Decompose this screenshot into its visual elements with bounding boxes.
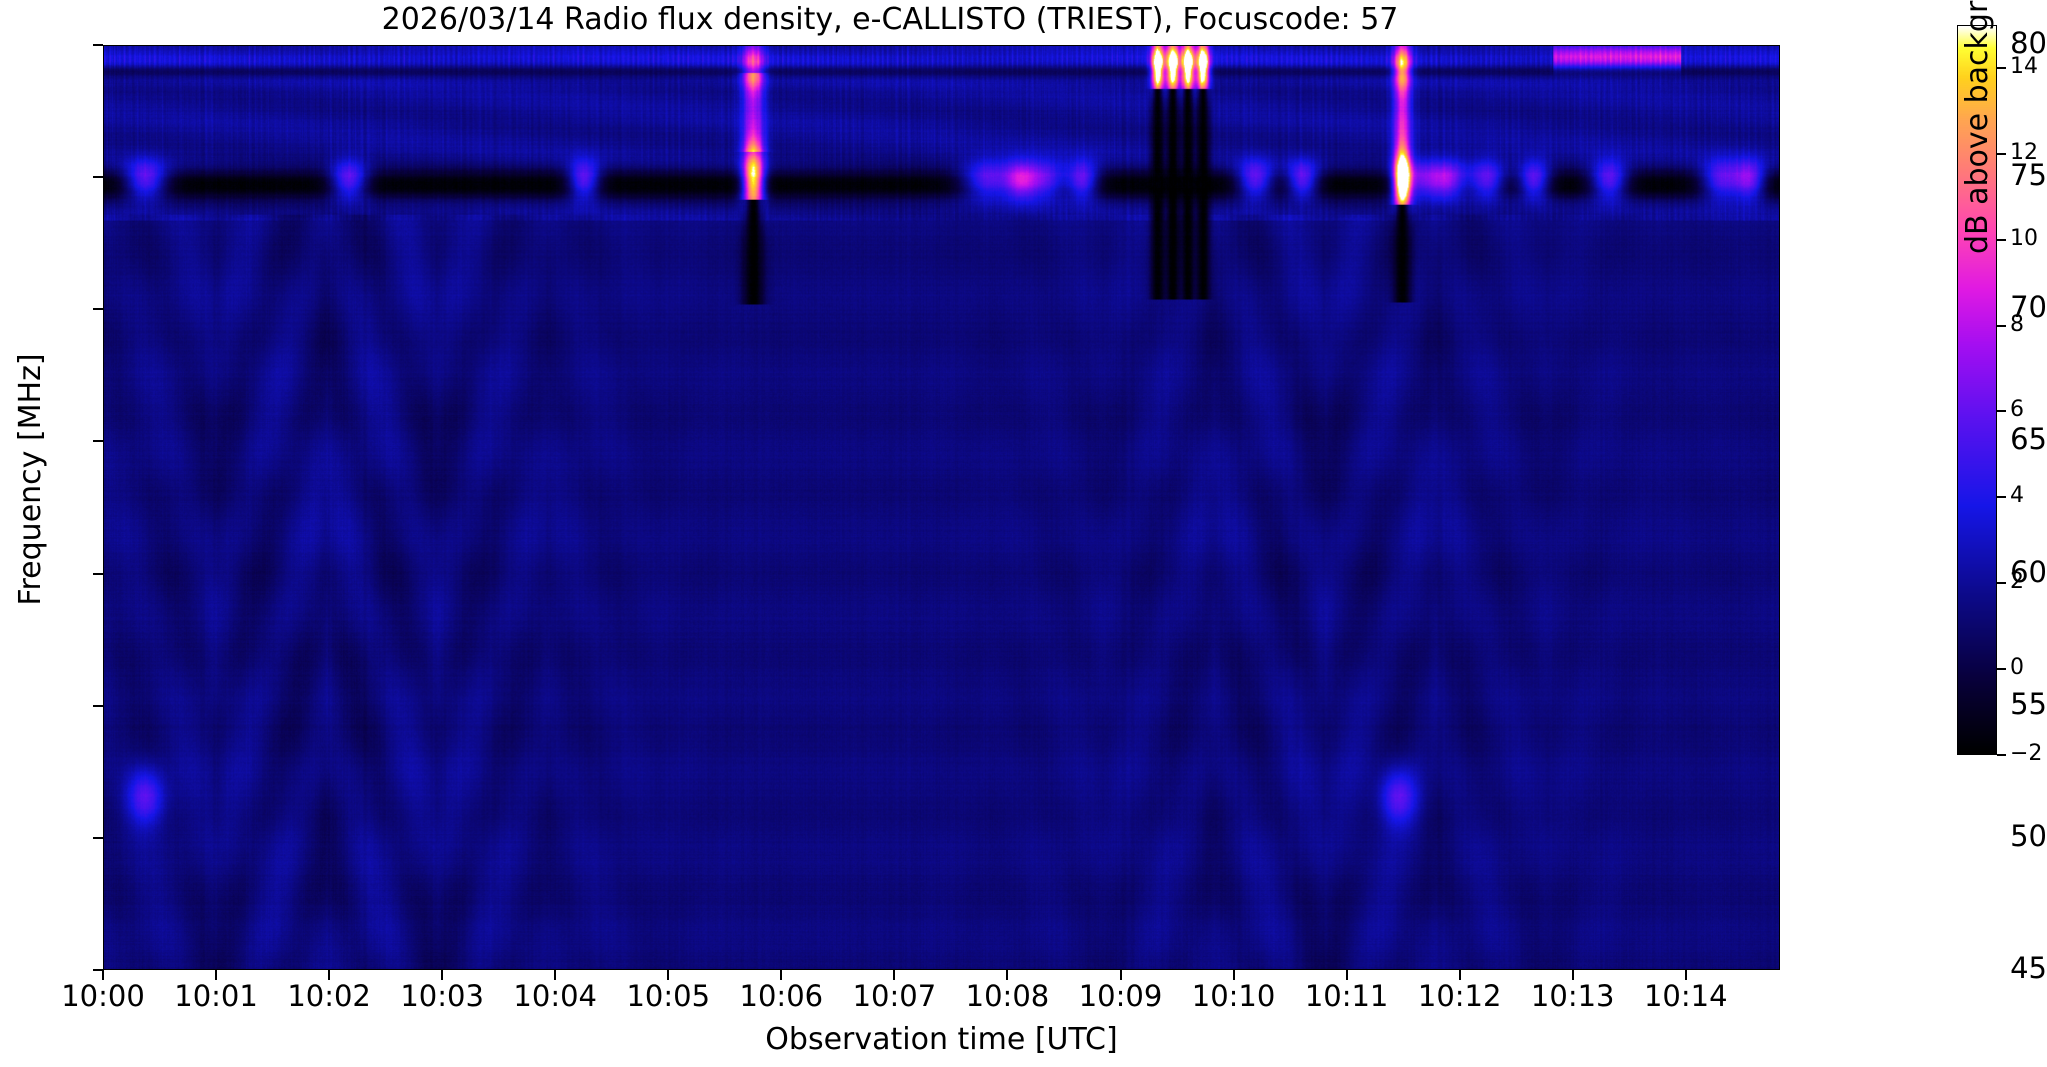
y-tick-mark — [93, 308, 103, 310]
y-tick-label: 45 — [1961, 954, 2047, 983]
y-tick-mark — [93, 44, 103, 46]
colorbar-tick-label: 12 — [2010, 142, 2038, 164]
colorbar-tick-label: 8 — [2010, 314, 2024, 336]
colorbar-tick-label: 4 — [2010, 485, 2024, 507]
colorbar-tick-mark — [1997, 239, 2006, 241]
colorbar-tick-mark — [1997, 496, 2006, 498]
colorbar-tick-mark — [1997, 668, 2006, 670]
colorbar-tick-mark — [1997, 582, 2006, 584]
y-axis-label: Frequency [MHz] — [13, 17, 48, 942]
colorbar-tick-label: 6 — [2010, 399, 2024, 421]
colorbar-tick-mark — [1997, 153, 2006, 155]
y-tick-label: 50 — [1961, 822, 2047, 851]
figure-root: 2026/03/14 Radio flux density, e-CALLIST… — [0, 0, 2047, 1067]
y-tick-mark — [93, 837, 103, 839]
spectrogram-canvas — [104, 46, 1779, 969]
colorbar-label: dB above background — [1960, 0, 1995, 390]
colorbar-tick-mark — [1997, 67, 2006, 69]
x-axis-label: Observation time [UTC] — [103, 1022, 1780, 1057]
colorbar-tick-label: 0 — [2010, 657, 2024, 679]
colorbar-tick-label: 10 — [2010, 228, 2038, 250]
colorbar-tick-label: −2 — [2010, 743, 2042, 765]
spectrogram-plot-area[interactable] — [103, 45, 1780, 970]
y-tick-mark — [93, 176, 103, 178]
x-tick-label: 10:14 — [1606, 982, 1766, 1011]
y-tick-mark — [93, 705, 103, 707]
figure-title: 2026/03/14 Radio flux density, e-CALLIST… — [0, 2, 1780, 37]
colorbar-tick-mark — [1997, 410, 2006, 412]
colorbar-tick-label: 14 — [2010, 56, 2038, 78]
colorbar-tick-mark — [1997, 754, 2006, 756]
colorbar-tick-label: 2 — [2010, 571, 2024, 593]
y-tick-mark — [93, 440, 103, 442]
colorbar-tick-mark — [1997, 325, 2006, 327]
y-tick-mark — [93, 573, 103, 575]
